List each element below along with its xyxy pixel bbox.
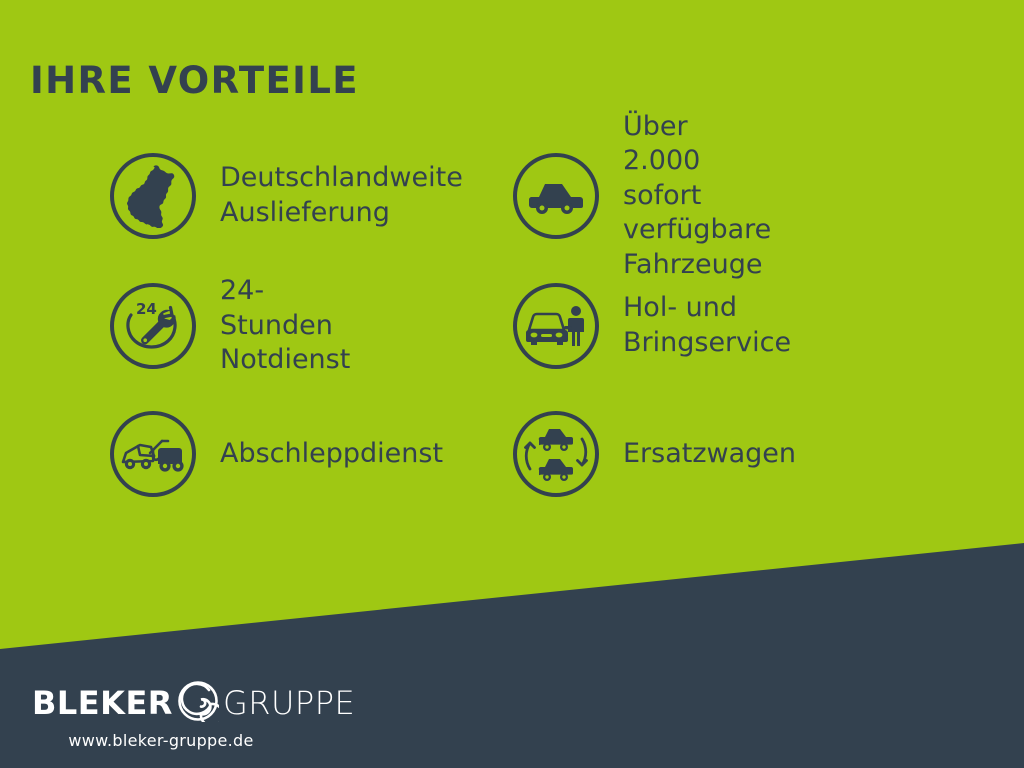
- page-title: IHRE VORTEILE: [30, 62, 359, 99]
- hours-badge-text: 24: [136, 300, 157, 318]
- logo-row: BLEKER GRUPPE: [32, 681, 332, 725]
- car-with-person-icon: [513, 283, 599, 369]
- germany-map-icon: [110, 153, 196, 239]
- benefit-label: Deutschlandweite Auslieferung: [220, 161, 463, 230]
- website-url[interactable]: www.bleker-gruppe.de: [32, 731, 290, 750]
- benefit-label: Ersatzwagen: [623, 437, 796, 472]
- logo-secondary-text: GRUPPE: [223, 687, 355, 719]
- car-side-icon: [513, 153, 599, 239]
- benefit-label: 24-Stunden Notdienst: [220, 274, 350, 378]
- benefit-item[interactable]: Abschleppdienst: [110, 410, 443, 498]
- benefit-label: Hol- und Bringservice: [623, 291, 791, 360]
- footer-logo[interactable]: BLEKER GRUPPE www.bleker-gruppe.de: [32, 681, 332, 750]
- slide-ihre-vorteile: IHRE VORTEILE Deutschlandweite Ausliefer…: [0, 0, 1024, 768]
- tow-truck-icon: [110, 411, 196, 497]
- bleker-spiral-logo-icon: [177, 680, 219, 726]
- green-background-panel: [0, 0, 1024, 768]
- 24-hour-wrench-icon: 24: [110, 283, 196, 369]
- benefit-item[interactable]: Deutschlandweite Auslieferung: [110, 152, 463, 240]
- benefit-item[interactable]: Ersatzwagen: [513, 410, 796, 498]
- car-exchange-icon: [513, 411, 599, 497]
- logo-primary-text: BLEKER: [32, 687, 173, 719]
- benefit-label: Über 2.000 sofort verfügbare Fahrzeuge: [623, 110, 771, 283]
- benefit-item[interactable]: Über 2.000 sofort verfügbare Fahrzeuge: [513, 152, 771, 240]
- benefit-label: Abschleppdienst: [220, 437, 443, 472]
- benefit-item[interactable]: 24 24-Stunden Notdienst: [110, 282, 350, 370]
- benefit-item[interactable]: Hol- und Bringservice: [513, 282, 791, 370]
